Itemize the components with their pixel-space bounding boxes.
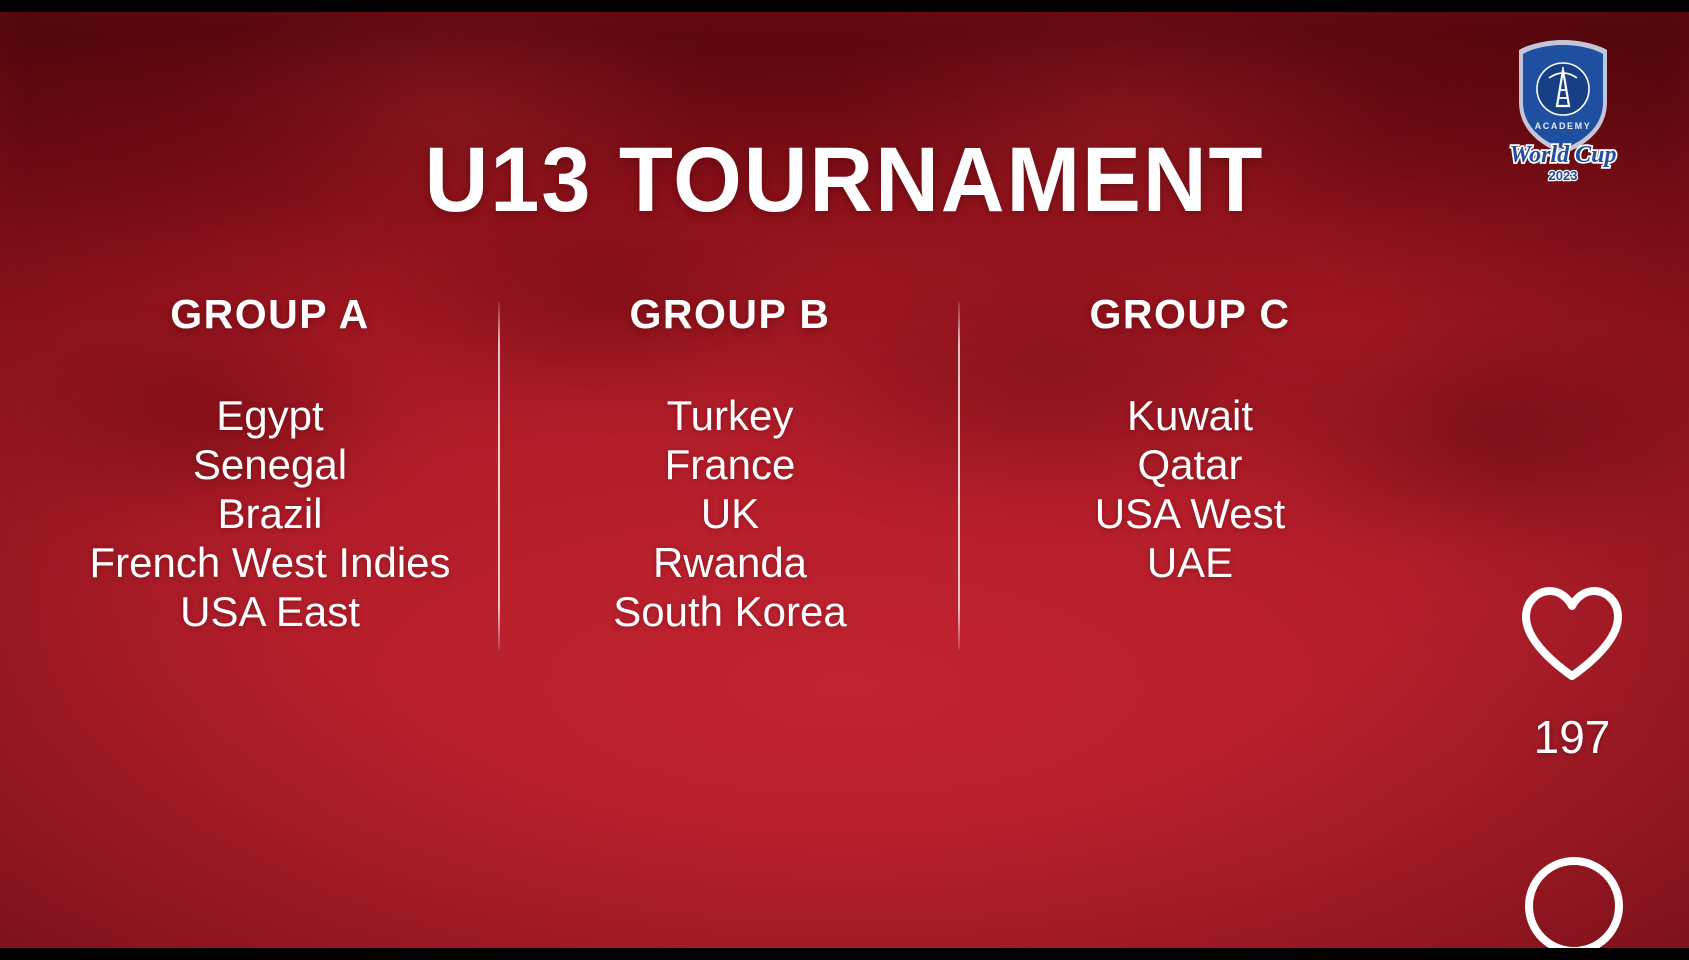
video-stage: ACADEMY World Cup 2023 U13 TOURNAMENT GR… (0, 12, 1689, 948)
group-c-header: GROUP C (1089, 294, 1290, 335)
logo-crest-text: ACADEMY (1535, 121, 1592, 131)
psg-academy-world-cup-logo: ACADEMY World Cup 2023 (1493, 34, 1633, 184)
list-item: Egypt (89, 391, 450, 440)
list-item: Turkey (613, 391, 847, 440)
list-item: French West Indies (89, 538, 450, 587)
list-item: USA East (89, 587, 450, 636)
letterbox-top (0, 0, 1689, 12)
group-c-team-list: Kuwait Qatar USA West UAE (1095, 391, 1286, 587)
list-item: UK (613, 489, 847, 538)
list-item: Brazil (89, 489, 450, 538)
list-item: Kuwait (1095, 391, 1286, 440)
group-columns: GROUP A Egypt Senegal Brazil French West… (40, 294, 1420, 694)
logo-year: 2023 (1549, 168, 1578, 183)
list-item: Rwanda (613, 538, 847, 587)
list-item: France (613, 440, 847, 489)
list-item: Qatar (1095, 440, 1286, 489)
list-item: South Korea (613, 587, 847, 636)
group-b-header: GROUP B (629, 294, 830, 335)
logo-wordmark: World Cup (1510, 142, 1617, 168)
group-a-team-list: Egypt Senegal Brazil French West Indies … (89, 391, 450, 636)
group-column-c: GROUP C Kuwait Qatar USA West UAE (960, 294, 1420, 694)
group-b-team-list: Turkey France UK Rwanda South Korea (613, 391, 847, 636)
group-a-header: GROUP A (170, 294, 370, 335)
like-button[interactable] (1516, 584, 1628, 684)
heart-outline-icon (1516, 671, 1628, 688)
list-item: USA West (1095, 489, 1286, 538)
page-title: U13 TOURNAMENT (34, 134, 1655, 226)
comment-button[interactable] (1515, 844, 1633, 948)
list-item: Senegal (89, 440, 450, 489)
social-action-rail: 197 (1497, 584, 1647, 760)
group-column-b: GROUP B Turkey France UK Rwanda South Ko… (500, 294, 960, 694)
list-item: UAE (1095, 538, 1286, 587)
group-column-a: GROUP A Egypt Senegal Brazil French West… (40, 294, 500, 694)
video-screen: ACADEMY World Cup 2023 U13 TOURNAMENT GR… (0, 0, 1689, 960)
like-count: 197 (1534, 714, 1611, 760)
letterbox-bottom (0, 948, 1689, 960)
